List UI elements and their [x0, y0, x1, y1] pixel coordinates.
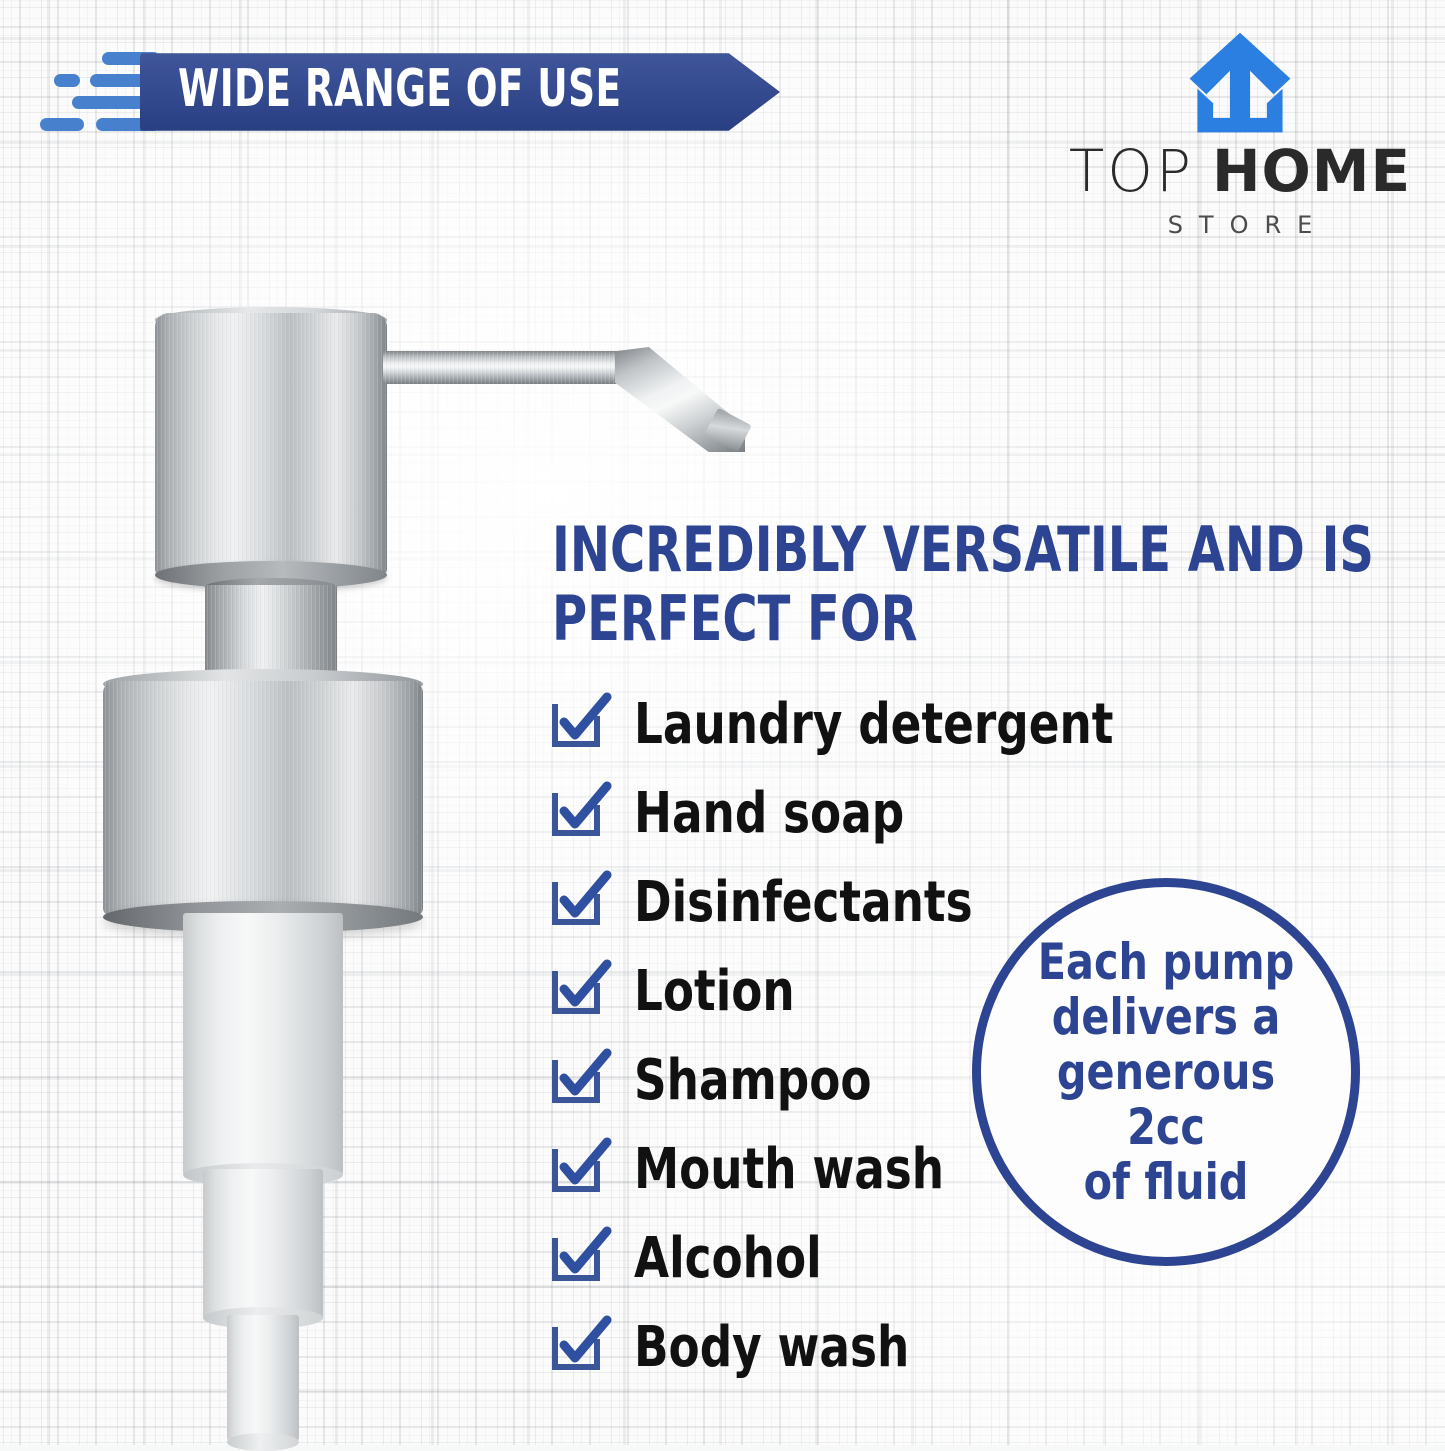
list-item: Laundry detergent	[552, 680, 1112, 769]
banner-title-text: WIDE RANGE OF USE	[178, 59, 621, 119]
logo-word-top: TOP	[1069, 137, 1194, 205]
checkbox-checked-icon	[552, 967, 608, 1017]
checkbox-checked-icon	[552, 1234, 608, 1284]
pump-plastic-tube-lower	[227, 1315, 299, 1443]
pump-collar	[103, 681, 423, 916]
pump-head-cylinder	[155, 313, 387, 575]
list-item-label: Lotion	[634, 964, 795, 1020]
logo-word-home: HOME	[1212, 137, 1411, 205]
house-up-arrow-icon	[1184, 26, 1296, 138]
list-item: Alcohol	[552, 1214, 1112, 1303]
banner-title: WIDE RANGE OF USE	[178, 61, 732, 121]
feature-badge-circle: Each pump delivers a generous 2cc of flu…	[972, 878, 1360, 1266]
list-item-label: Alcohol	[634, 1231, 822, 1287]
badge-line-1: Each pump	[1014, 935, 1318, 990]
logo-wordmark: TOPHOME	[1060, 142, 1420, 201]
badge-line-2: delivers a	[1014, 990, 1318, 1045]
list-item-label: Hand soap	[634, 786, 904, 842]
checkbox-checked-icon	[552, 1145, 608, 1195]
streak-bar-2a	[54, 74, 80, 87]
brand-logo: TOPHOME STORE	[1060, 26, 1420, 239]
pump-spout-horizontal	[383, 351, 631, 384]
list-item-label: Disinfectants	[634, 875, 973, 931]
list-item-label: Shampoo	[634, 1053, 872, 1109]
pump-plastic-tube-middle	[203, 1169, 323, 1319]
badge-line-4: of fluid	[1014, 1155, 1318, 1210]
checkbox-checked-icon	[552, 789, 608, 839]
list-item-label: Mouth wash	[634, 1142, 944, 1198]
headline-line-1: INCREDIBLY VERSATILE AND IS	[552, 515, 1266, 584]
streak-bar-4a	[40, 118, 84, 131]
checkbox-checked-icon	[552, 700, 608, 750]
feature-badge-text: Each pump delivers a generous 2cc of flu…	[1014, 935, 1318, 1210]
checkbox-checked-icon	[552, 878, 608, 928]
list-item-label: Laundry detergent	[634, 697, 1113, 753]
logo-word-store: STORE	[1060, 211, 1420, 239]
list-item-label: Body wash	[634, 1320, 909, 1376]
section-header-banner: WIDE RANGE OF USE	[140, 48, 780, 136]
badge-line-3: generous 2cc	[1014, 1045, 1318, 1155]
checkbox-checked-icon	[552, 1323, 608, 1373]
pump-plastic-tube-upper	[183, 913, 343, 1175]
headline-line-2: PERFECT FOR	[552, 584, 1266, 653]
list-item: Body wash	[552, 1303, 1112, 1392]
page-headline: INCREDIBLY VERSATILE AND IS PERFECT FOR	[552, 515, 1382, 654]
pump-tube-lower-end	[227, 1433, 299, 1451]
list-item: Hand soap	[552, 769, 1112, 858]
checkbox-checked-icon	[552, 1056, 608, 1106]
